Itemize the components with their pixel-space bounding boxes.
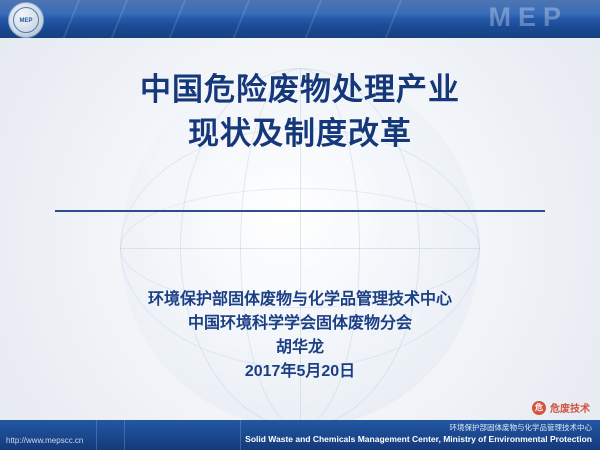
mep-wordmark: MEP: [488, 2, 568, 33]
hazard-waste-icon: 危: [532, 401, 546, 415]
credit-organization-2: 中国环境科学学会固体废物分会: [0, 312, 600, 336]
footer-url[interactable]: http://www.mepscc.cn: [6, 436, 83, 445]
title-line-1: 中国危险废物处理产业: [0, 68, 600, 112]
credit-author: 胡华龙: [0, 336, 600, 360]
title-line-2: 现状及制度改革: [0, 112, 600, 156]
bottom-bar-separator: [96, 420, 97, 450]
presentation-slide: MEP MEP 中国危险废物处理产业 现状及制度改革 环境保护部固体废物与化学品…: [0, 0, 600, 450]
bottom-bar-separator: [240, 420, 241, 450]
ministry-emblem-icon: MEP: [8, 2, 44, 38]
credit-organization-1: 环境保护部固体废物与化学品管理技术中心: [0, 288, 600, 312]
credits-block: 环境保护部固体废物与化学品管理技术中心 中国环境科学学会固体废物分会 胡华龙 2…: [0, 288, 600, 384]
bottom-bar: http://www.mepscc.cn 环境保护部固体废物与化学品管理技术中心…: [0, 420, 600, 450]
bottom-bar-separator: [124, 420, 125, 450]
footer-center-cn: 环境保护部固体废物与化学品管理技术中心: [450, 422, 593, 433]
credit-date: 2017年5月20日: [0, 360, 600, 384]
top-banner: MEP MEP: [0, 0, 600, 38]
watermark-logo: 危 危废技术: [532, 400, 590, 415]
watermark-label: 危废技术: [550, 400, 590, 415]
slide-title: 中国危险废物处理产业 现状及制度改革: [0, 68, 600, 156]
title-divider: [55, 210, 545, 212]
footer-center-en: Solid Waste and Chemicals Management Cen…: [245, 434, 592, 444]
emblem-inner-label: MEP: [13, 7, 39, 33]
